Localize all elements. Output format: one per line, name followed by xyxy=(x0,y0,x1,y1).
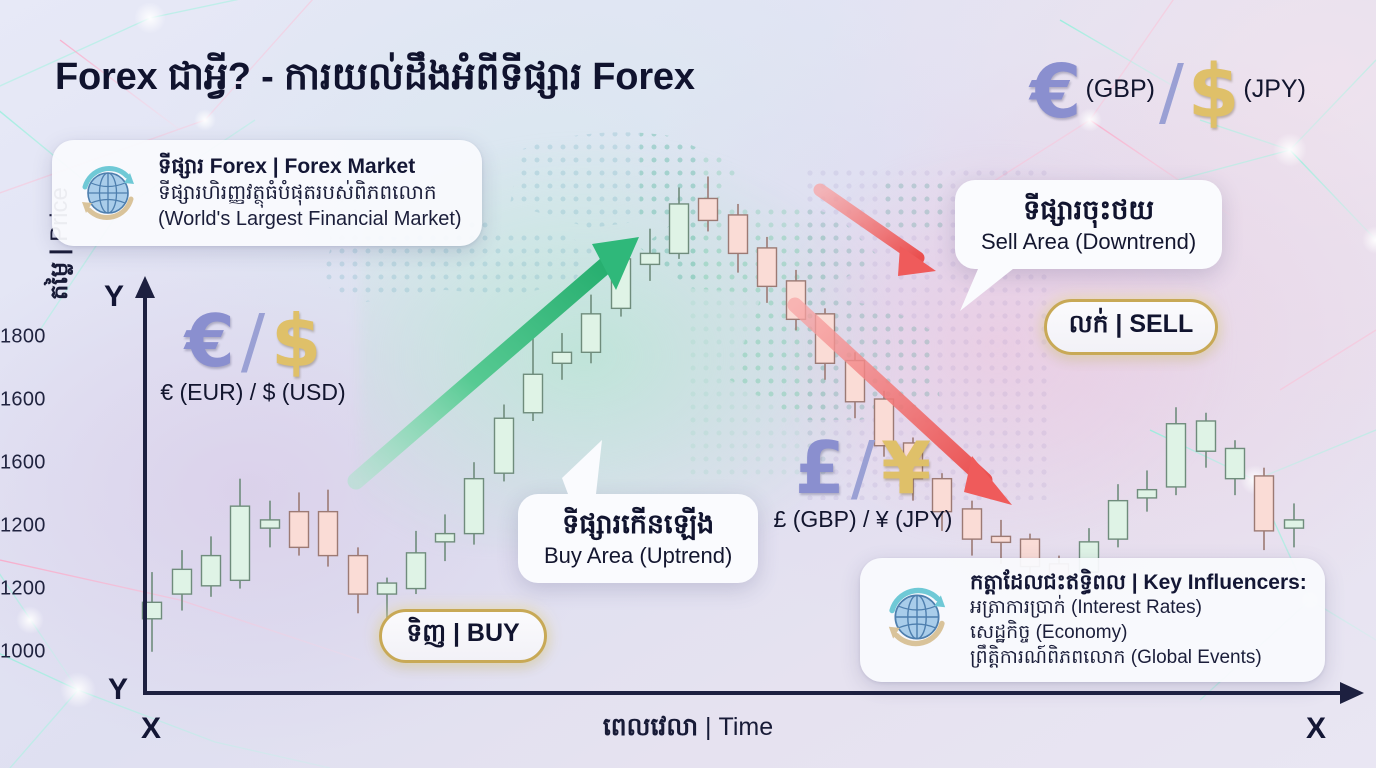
top-currency-pair: € (GBP) / $ (JPY) xyxy=(1030,55,1306,129)
globe-exchange-icon xyxy=(72,157,144,229)
dollar-symbol-icon: $ xyxy=(1188,55,1240,129)
candle-bullish xyxy=(1226,448,1245,478)
buy-area-en: Buy Area (Uptrend) xyxy=(544,542,732,571)
buy-callout-tail xyxy=(540,432,630,512)
euro-symbol-icon: € xyxy=(1030,55,1082,129)
sell-area-callout[interactable]: ទីផ្សារចុះថយ Sell Area (Downtrend) xyxy=(955,180,1222,269)
influencer-item: អត្រាការប្រាក់ (Interest Rates) xyxy=(970,596,1307,621)
candle-bullish xyxy=(465,479,484,534)
candle-bullish xyxy=(524,374,543,412)
globe-exchange-icon xyxy=(878,578,956,656)
eur-usd-pair: €/$ € (EUR) / $ (USD) xyxy=(158,305,348,406)
candle-bullish xyxy=(378,583,397,594)
candle-bearish xyxy=(992,536,1011,542)
candle-bearish xyxy=(963,509,982,539)
pair-slash: / xyxy=(1159,55,1184,129)
candle-bearish xyxy=(729,215,748,253)
candle-bullish xyxy=(407,553,426,589)
candle-bearish xyxy=(758,248,777,286)
x-axis-title-sep: | xyxy=(698,713,718,741)
candle-bullish xyxy=(1167,424,1186,487)
pound-symbol-icon: £ xyxy=(795,426,845,510)
sell-area-kh: ទីផ្សារចុះថយ xyxy=(981,192,1196,228)
sell-callout-tail xyxy=(960,265,1030,315)
x-axis xyxy=(143,691,1348,695)
candle-bullish xyxy=(202,556,221,586)
candle-bearish xyxy=(699,198,718,220)
buy-button[interactable]: ទិញ | BUY xyxy=(379,609,547,663)
influencer-item: ព្រឹត្តិការណ៍ពិភពលោក (Global Events) xyxy=(970,646,1307,671)
candle-bullish xyxy=(436,534,455,542)
top-pair-right-code: (JPY) xyxy=(1243,75,1306,110)
candle-bullish xyxy=(495,418,514,473)
gbp-jpy-caption: £ (GBP) / ¥ (JPY) xyxy=(768,506,958,533)
pair-slash: / xyxy=(851,426,875,510)
key-influencers-title: កត្តាដែលជះឥទ្ធិពល | Key Influencers: xyxy=(970,570,1307,596)
x-axis-title: ពេលវេលា | Time xyxy=(0,712,1376,748)
candle-bearish xyxy=(1255,476,1274,531)
candle-bullish xyxy=(1109,501,1128,539)
forex-market-title: ទីផ្សារ Forex | Forex Market xyxy=(158,154,462,180)
candle-bullish xyxy=(1138,490,1157,498)
y-axis-tick-label: 1800 xyxy=(0,326,130,349)
candle-bullish xyxy=(173,569,192,594)
candle-bullish xyxy=(553,352,572,363)
page-title: Forex ជាអ្វី? - ការយល់ដឹងអំពីទីផ្សារ For… xyxy=(55,52,695,108)
x-axis-arrowhead xyxy=(1336,678,1366,708)
pair-slash: / xyxy=(241,299,265,383)
forex-market-subtitle-kh: ទីផ្សារហិរញ្ញវត្ថុធំបំផុតរបស់ពិភពលោក xyxy=(158,180,462,206)
candle-bullish xyxy=(231,506,250,580)
y-axis-tick-label: 1600 xyxy=(0,389,130,412)
gbp-jpy-pair: £/¥ £ (GBP) / ¥ (JPY) xyxy=(768,432,958,533)
yen-symbol-icon: ¥ xyxy=(881,426,931,510)
sell-area-en: Sell Area (Downtrend) xyxy=(981,228,1196,257)
eur-usd-caption: € (EUR) / $ (USD) xyxy=(158,379,348,406)
y-axis-letter-bottom: Y xyxy=(108,673,128,707)
y-axis-title-kh: តម្លៃ xyxy=(46,262,73,300)
y-axis-tick-label: 1600 xyxy=(0,452,130,475)
y-axis xyxy=(143,295,147,695)
candle-bearish xyxy=(290,512,309,548)
dollar-symbol-icon: $ xyxy=(271,299,321,383)
y-axis-tick-label: 1200 xyxy=(0,578,130,601)
candle-bullish xyxy=(641,253,660,264)
key-influencers-card[interactable]: កត្តាដែលជះឥទ្ធិពល | Key Influencers: អត្… xyxy=(860,558,1325,682)
euro-symbol-icon: € xyxy=(185,299,235,383)
influencer-item: សេដ្ឋកិច្ច (Economy) xyxy=(970,621,1307,646)
candle-bullish xyxy=(1285,520,1304,528)
candle-bullish xyxy=(670,204,689,253)
x-axis-title-en: Time xyxy=(718,713,773,741)
y-axis-tick-label: 1200 xyxy=(0,515,130,538)
candle-bullish xyxy=(261,520,280,528)
forex-market-subtitle-en: (World's Largest Financial Market) xyxy=(158,206,462,232)
candle-bullish xyxy=(1197,421,1216,451)
y-axis-arrowhead xyxy=(130,276,160,304)
candle-bullish xyxy=(582,314,601,352)
y-axis-tick-label: 1000 xyxy=(0,641,130,664)
forex-market-card[interactable]: ទីផ្សារ Forex | Forex Market ទីផ្សារហិរញ… xyxy=(52,140,482,246)
candle-bearish xyxy=(319,512,338,556)
candle-bearish xyxy=(349,556,368,594)
y-axis-letter-top: Y xyxy=(104,280,124,314)
x-axis-title-kh: ពេលវេលា xyxy=(603,713,698,741)
downtrend-arrow-upper xyxy=(820,190,936,276)
top-pair-left-code: (GBP) xyxy=(1086,75,1155,110)
sell-button[interactable]: លក់ | SELL xyxy=(1044,299,1218,355)
infographic-canvas: Y Y X X 180016001600120012001000 តម្លៃ |… xyxy=(0,0,1376,768)
